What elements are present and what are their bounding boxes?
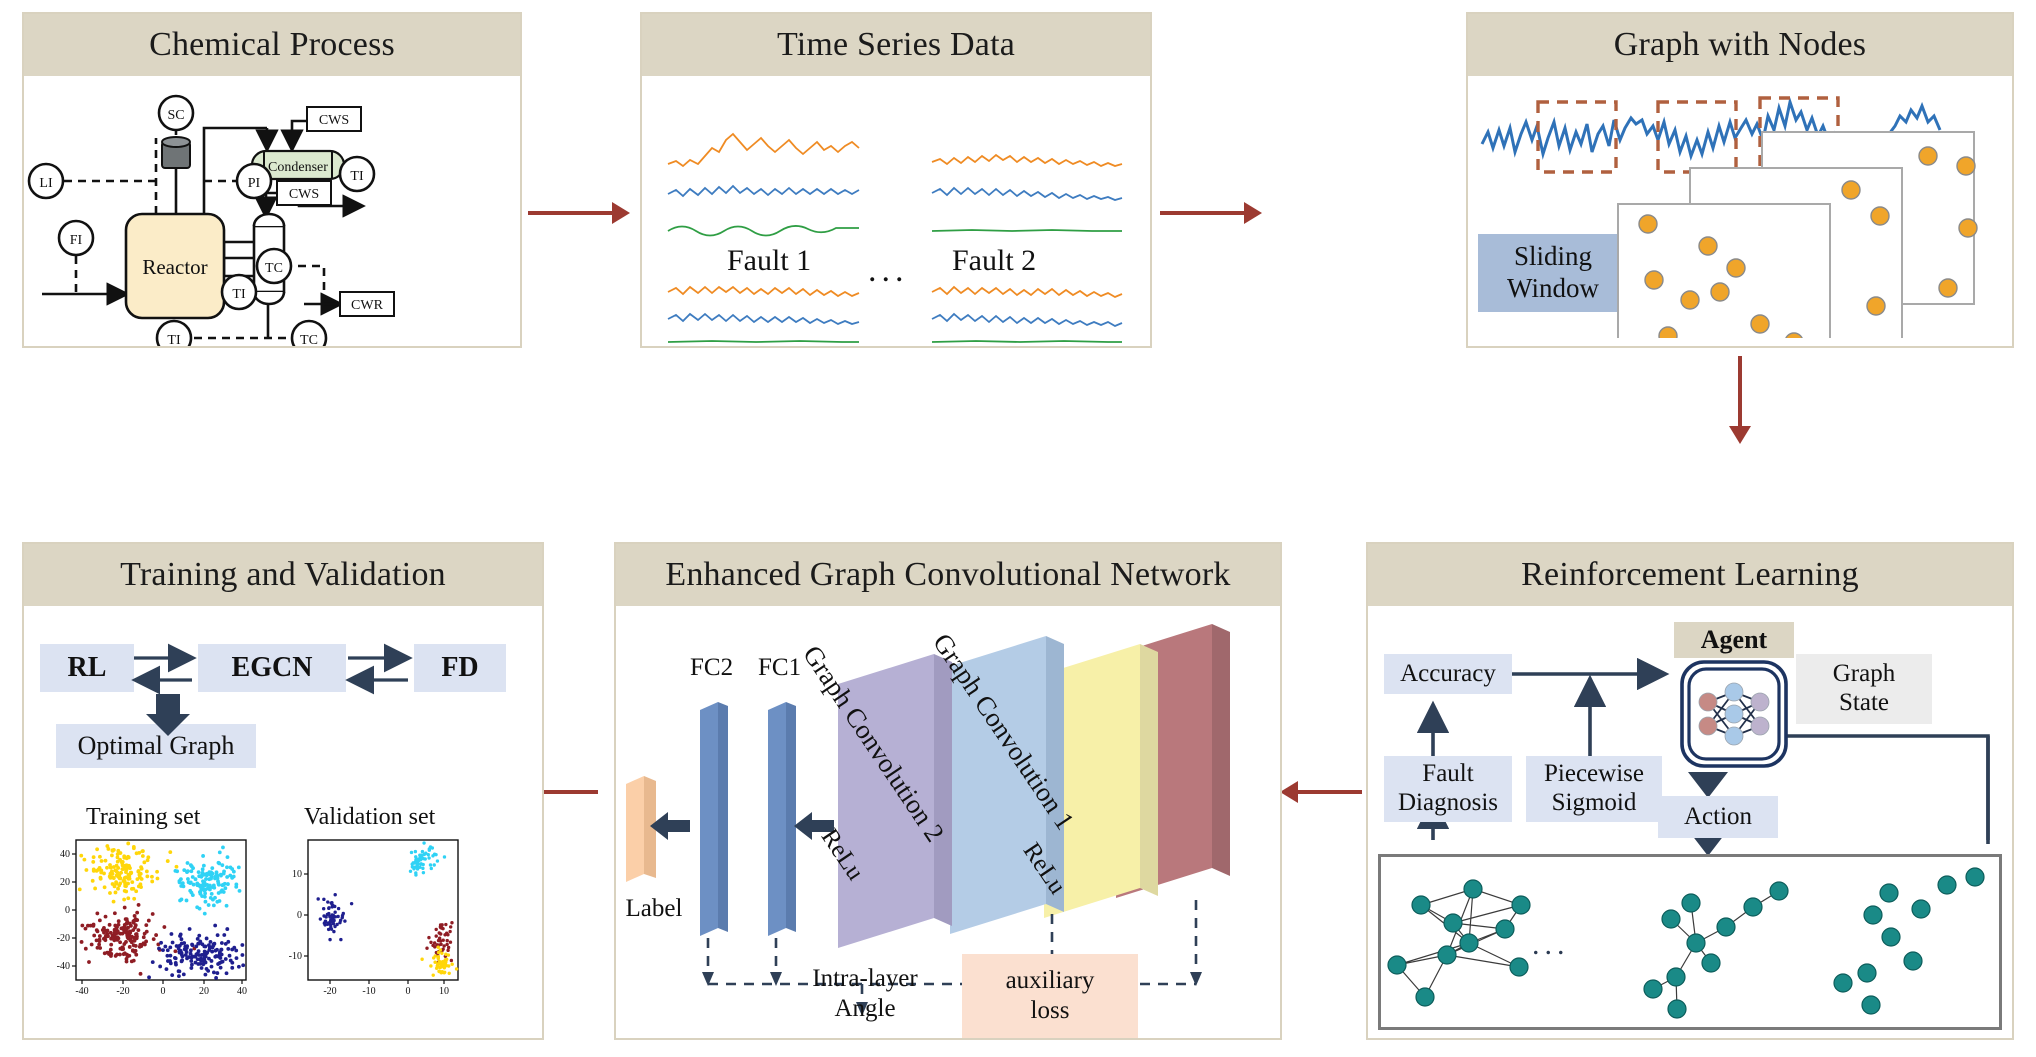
panel-title-training-validation: Training and Validation	[120, 556, 446, 594]
connector-arrowhead-4	[1280, 781, 1298, 803]
egcn-auxiliary-loss-box: auxiliary loss	[962, 954, 1138, 1038]
rl-agent-caption: Agent	[1674, 622, 1794, 658]
panel-title-graph-with-nodes: Graph with Nodes	[1614, 26, 1867, 64]
svg-text:10: 10	[292, 869, 302, 880]
panel-title-reinforcement-learning: Reinforcement Learning	[1521, 556, 1859, 594]
connector-process-to-timeseries	[528, 211, 614, 215]
connector-arrowhead-2	[1244, 202, 1262, 224]
sliding-window-line2: Window	[1507, 273, 1599, 305]
egcn-label-text: Label	[618, 894, 690, 924]
connector-rl-to-egcn	[1296, 790, 1362, 794]
panel-body-chemical-process: SC LI PI TI FI TC TI	[24, 76, 520, 346]
panel-body-time-series: Fault 1 ... Fault 2 Fault 20 Fault 21	[642, 76, 1150, 346]
rl-piecewise-line2: Sigmoid	[1552, 789, 1637, 818]
sliding-window-line1: Sliding	[1514, 241, 1592, 273]
rl-accuracy-box: Accuracy	[1384, 654, 1512, 694]
tv-egcn-to-optimal-arrow-icon	[146, 694, 190, 736]
panel-graph-with-nodes: Graph with Nodes Sliding Window	[1466, 12, 2014, 348]
panel-header-time-series: Time Series Data	[642, 14, 1150, 76]
svg-text:20: 20	[60, 877, 70, 888]
egcn-intra-layer-angle: Intra-layer Angle	[780, 964, 950, 1024]
svg-text:-20: -20	[116, 986, 129, 997]
chart-training-set: 40 20 0 -20 -40 -40 -20 0 20 40	[38, 834, 258, 1024]
panel-body-reinforcement-learning: Accuracy Fault Diagnosis Piecewise Sigmo…	[1368, 606, 2012, 1038]
agent-to-action-arrow-icon	[1688, 772, 1728, 798]
panel-header-graph-with-nodes: Graph with Nodes	[1468, 14, 2012, 76]
svg-text:-10: -10	[289, 951, 302, 962]
rl-fault-diagnosis-line1: Fault	[1422, 760, 1473, 789]
svg-text:40: 40	[60, 849, 70, 860]
rl-piecewise-sigmoid-box: Piecewise Sigmoid	[1526, 756, 1662, 822]
panel-header-reinforcement-learning: Reinforcement Learning	[1368, 544, 2012, 606]
time-series-ellipsis: ...	[868, 252, 909, 290]
pid-diagram: SC LI PI TI FI TC TI	[24, 76, 520, 346]
svg-text:0: 0	[297, 910, 302, 921]
label-slab	[626, 776, 656, 882]
graph-node-planes	[1608, 128, 2008, 338]
panel-training-validation: Training and Validation RL EGCN FD Optim…	[22, 542, 544, 1040]
figure-canvas: Chemical Process	[0, 0, 2036, 1057]
svg-text:40: 40	[237, 986, 247, 997]
svg-text:-20: -20	[323, 986, 336, 997]
chart-title-validation-set: Validation set	[304, 804, 435, 831]
egcn-intra-layer-line2: Angle	[780, 994, 950, 1024]
rl-graph-state-line2: State	[1839, 689, 1889, 718]
panel-title-egcn: Enhanced Graph Convolutional Network	[665, 556, 1230, 594]
rl-fault-diagnosis-box: Fault Diagnosis	[1384, 756, 1512, 822]
svg-text:0: 0	[161, 986, 166, 997]
fault-label-1: Fault 1	[727, 244, 811, 278]
rl-fault-diagnosis-line2: Diagnosis	[1398, 789, 1498, 818]
svg-text:0: 0	[65, 905, 70, 916]
time-series-traces	[642, 76, 1150, 346]
rl-agent-label: Agent	[1701, 625, 1767, 655]
neural-network-icon	[1678, 658, 1790, 770]
sliding-window-box: Sliding Window	[1478, 234, 1628, 312]
svg-text:-20: -20	[57, 933, 70, 944]
panel-header-egcn: Enhanced Graph Convolutional Network	[616, 544, 1280, 606]
egcn-intra-layer-line1: Intra-layer	[780, 964, 950, 994]
rl-piecewise-line1: Piecewise	[1544, 760, 1644, 789]
graph-evolution-states	[1381, 857, 1995, 1023]
rl-graph-ellipsis: ...	[1532, 928, 1570, 962]
panel-title-time-series: Time Series Data	[777, 26, 1015, 64]
svg-text:0: 0	[406, 986, 411, 997]
svg-text:20: 20	[199, 986, 209, 997]
panel-header-training-validation: Training and Validation	[24, 544, 542, 606]
panel-body-graph-with-nodes: Sliding Window	[1468, 76, 2012, 346]
panel-egcn: Enhanced Graph Convolutional Network	[614, 542, 1282, 1040]
graph-evolution-frame	[1378, 854, 2002, 1030]
rl-action-box: Action	[1658, 796, 1778, 838]
panel-time-series: Time Series Data	[640, 12, 1152, 348]
panel-chemical-process: Chemical Process	[22, 12, 522, 348]
svg-text:-40: -40	[57, 961, 70, 972]
rl-action-label: Action	[1684, 803, 1752, 832]
rl-graph-state-box: Graph State	[1796, 654, 1932, 724]
connector-graph-to-rl	[1738, 356, 1742, 428]
egcn-fc2-label: FC2	[690, 654, 733, 682]
connector-timeseries-to-graph	[1160, 211, 1246, 215]
svg-text:10: 10	[439, 986, 449, 997]
svg-text:-40: -40	[75, 986, 88, 997]
rl-accuracy-label: Accuracy	[1400, 660, 1496, 689]
panel-body-training-validation: RL EGCN FD Optimal Graph	[24, 606, 542, 1038]
panel-header-chemical-process: Chemical Process	[24, 14, 520, 76]
chart-title-training-set: Training set	[86, 804, 200, 831]
panel-title-chemical-process: Chemical Process	[149, 26, 395, 64]
fault-label-2: Fault 2	[952, 244, 1036, 278]
egcn-aux-loss-line1: auxiliary	[1006, 966, 1095, 996]
connector-arrowhead-3	[1729, 426, 1751, 444]
fc1-slab	[768, 702, 796, 936]
panel-reinforcement-learning: Reinforcement Learning	[1366, 542, 2014, 1040]
egcn-aux-loss-line2: loss	[1031, 996, 1070, 1026]
egcn-fc1-label: FC1	[758, 654, 801, 682]
fc2-slab	[700, 702, 728, 936]
tv-connectors	[24, 606, 542, 796]
panel-body-egcn: FC2 FC1 Label Graph Convolution 2 Graph …	[616, 606, 1280, 1038]
rl-graph-state-line1: Graph	[1833, 660, 1895, 689]
chart-validation-set: 10 0 -10 -20 -10 0 10	[272, 834, 482, 1024]
svg-text:-10: -10	[362, 986, 375, 997]
connector-arrowhead-1	[612, 202, 630, 224]
